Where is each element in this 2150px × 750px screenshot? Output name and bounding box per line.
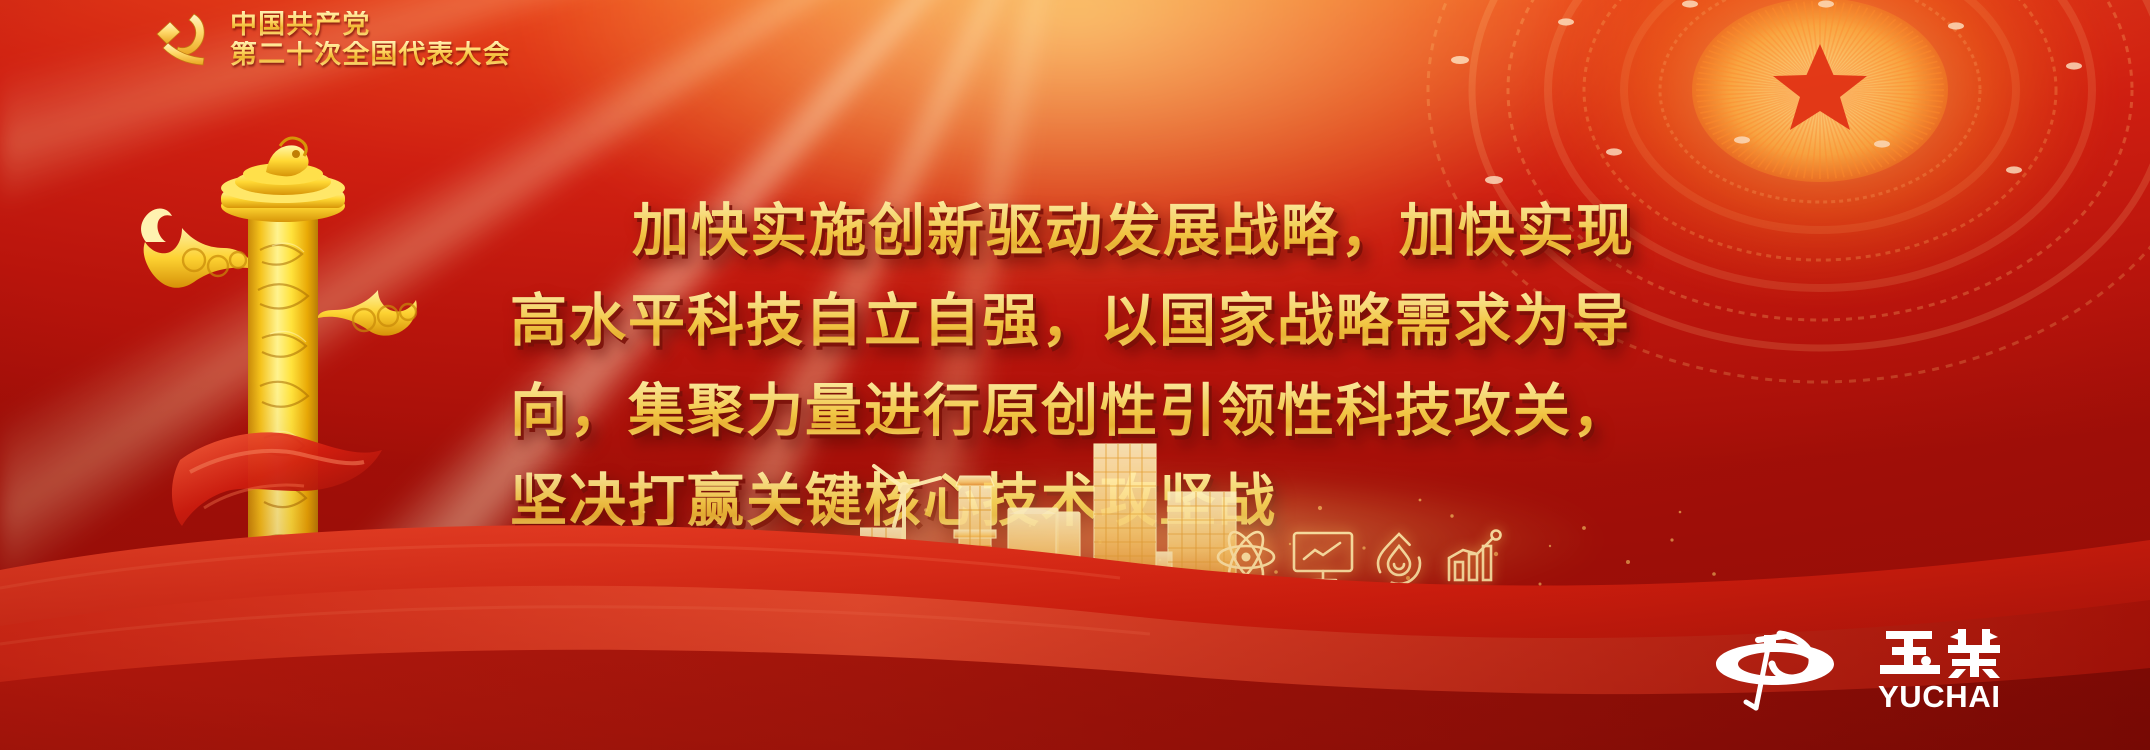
yuchai-brand-logo: YUCHAI	[1712, 625, 2028, 712]
yuchai-ellipse-mark-icon	[1712, 626, 1862, 712]
banner-stage: 中国共产党 第二十次全国代表大会	[0, 0, 2150, 750]
yuchai-name-en: YUCHAI	[1878, 681, 2001, 712]
yuchai-name-cn-icon	[1878, 625, 2028, 679]
